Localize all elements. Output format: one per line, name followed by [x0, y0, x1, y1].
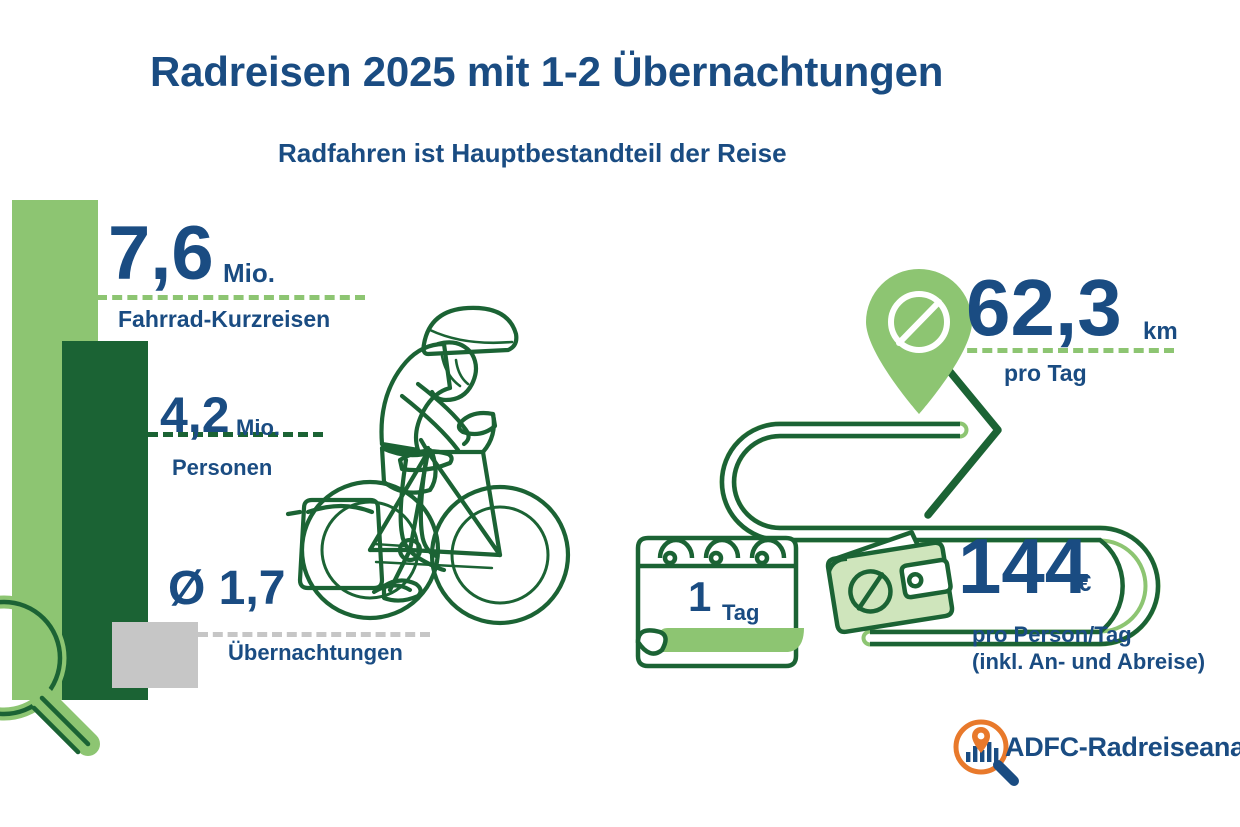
- stat-duration-unit: Tag: [722, 600, 759, 626]
- stat-trips-value: 7,6: [108, 216, 214, 292]
- stat-spend-caption: pro Person/Tag (inkl. An- und Abreise): [972, 622, 1205, 676]
- stat-duration-value: 1: [688, 576, 711, 618]
- stat-distance-caption: pro Tag: [1004, 360, 1087, 387]
- calendar-icon: [628, 518, 816, 670]
- stat-trips-unit: Mio.: [223, 258, 275, 289]
- page-title: Radreisen 2025 mit 1-2 Übernachtungen: [150, 48, 943, 96]
- stat-persons-unit: Mio.: [236, 415, 280, 441]
- page-subtitle: Radfahren ist Hauptbestandteil der Reise: [278, 138, 787, 169]
- infographic-canvas: Radreisen 2025 mit 1-2 Übernachtungen Ra…: [0, 0, 1240, 827]
- stat-spend-caption-line2: (inkl. An- und Abreise): [972, 649, 1205, 676]
- stat-spend-value: 144: [958, 527, 1088, 605]
- stat-persons-caption: Personen: [172, 455, 272, 481]
- map-pin-icon: [858, 266, 980, 416]
- wallet-icon: [818, 528, 966, 646]
- stat-spend-unit: €: [1078, 570, 1091, 598]
- stat-persons-value: 4,2: [160, 390, 230, 440]
- stat-spend-caption-line1: pro Person/Tag: [972, 622, 1205, 649]
- stat-distance-unit: km: [1143, 318, 1178, 346]
- stat-nights-value: Ø 1,7: [168, 565, 285, 613]
- cyclist-illustration: [278, 300, 578, 665]
- stat-distance-value: 62,3: [966, 268, 1122, 348]
- bar-uebernachtungen: [112, 622, 198, 688]
- adfc-logo-text: ADFC-Radreiseanalyse: [1005, 732, 1240, 763]
- magnifier-decoration-icon: [0, 596, 117, 771]
